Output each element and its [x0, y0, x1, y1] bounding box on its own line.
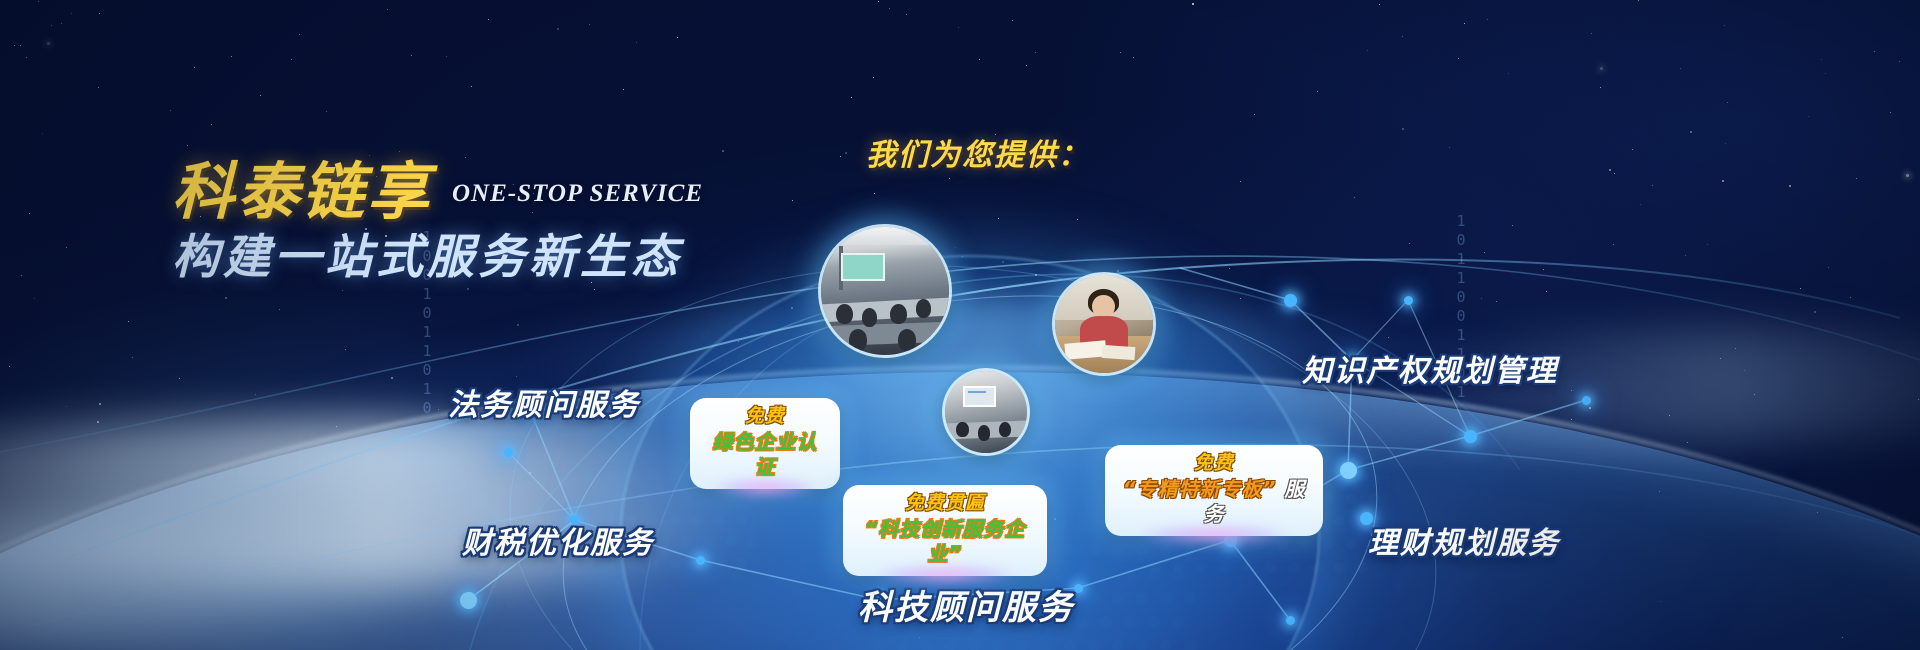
network-node [1340, 462, 1357, 479]
photo-seminar-room [818, 224, 952, 358]
network-node [1074, 584, 1083, 593]
badge-tech-innovation-service-enterprise[interactable]: 免费贯匾 “科技创新服务企业” [843, 485, 1047, 576]
badge-line-2: “科技创新服务企业” [859, 517, 1031, 567]
photo-meeting-room [942, 368, 1030, 456]
promo-banner: 1001011010 1011001101 [0, 0, 1920, 650]
badge-specialized-new-board-service[interactable]: 免费 “专精特新专板” 服务 [1105, 445, 1323, 536]
network-node [1286, 616, 1295, 625]
badge-line-1: 免费 [1121, 452, 1307, 476]
badge-line-1: 免费 [706, 405, 824, 429]
service-label-legal-advisory[interactable]: 法务顾问服务 [448, 380, 640, 424]
network-node [504, 448, 513, 457]
network-node [1582, 396, 1591, 405]
headline-subtitle: 构建一站式服务新生态 [172, 218, 682, 287]
photo-consultant-desk [1052, 272, 1156, 376]
service-label-tech-advisory[interactable]: 科技顾问服务 [858, 580, 1074, 629]
network-node [1464, 430, 1477, 443]
network-node [460, 592, 477, 609]
service-label-wealth-planning[interactable]: 理财规划服务 [1368, 518, 1560, 562]
badge-line-2: “专精特新专板” 服务 [1121, 477, 1307, 527]
network-node [1404, 296, 1413, 305]
network-node [1284, 294, 1297, 307]
network-node [696, 556, 705, 565]
badge-green-enterprise-certification[interactable]: 免费 绿色企业认证 [690, 398, 840, 489]
headline-english: ONE-STOP SERVICE [452, 180, 703, 208]
badge-line-1: 免费贯匾 [859, 492, 1031, 516]
service-label-ip-planning[interactable]: 知识产权规划管理 [1302, 346, 1558, 390]
service-label-tax-optimization[interactable]: 财税优化服务 [462, 518, 654, 562]
network-node [1224, 534, 1237, 547]
badge-line-2: 绿色企业认证 [706, 430, 824, 480]
badge-line-2-main: “专精特新专板” [1123, 477, 1277, 501]
section-kicker: 我们为您提供： [866, 130, 1090, 174]
